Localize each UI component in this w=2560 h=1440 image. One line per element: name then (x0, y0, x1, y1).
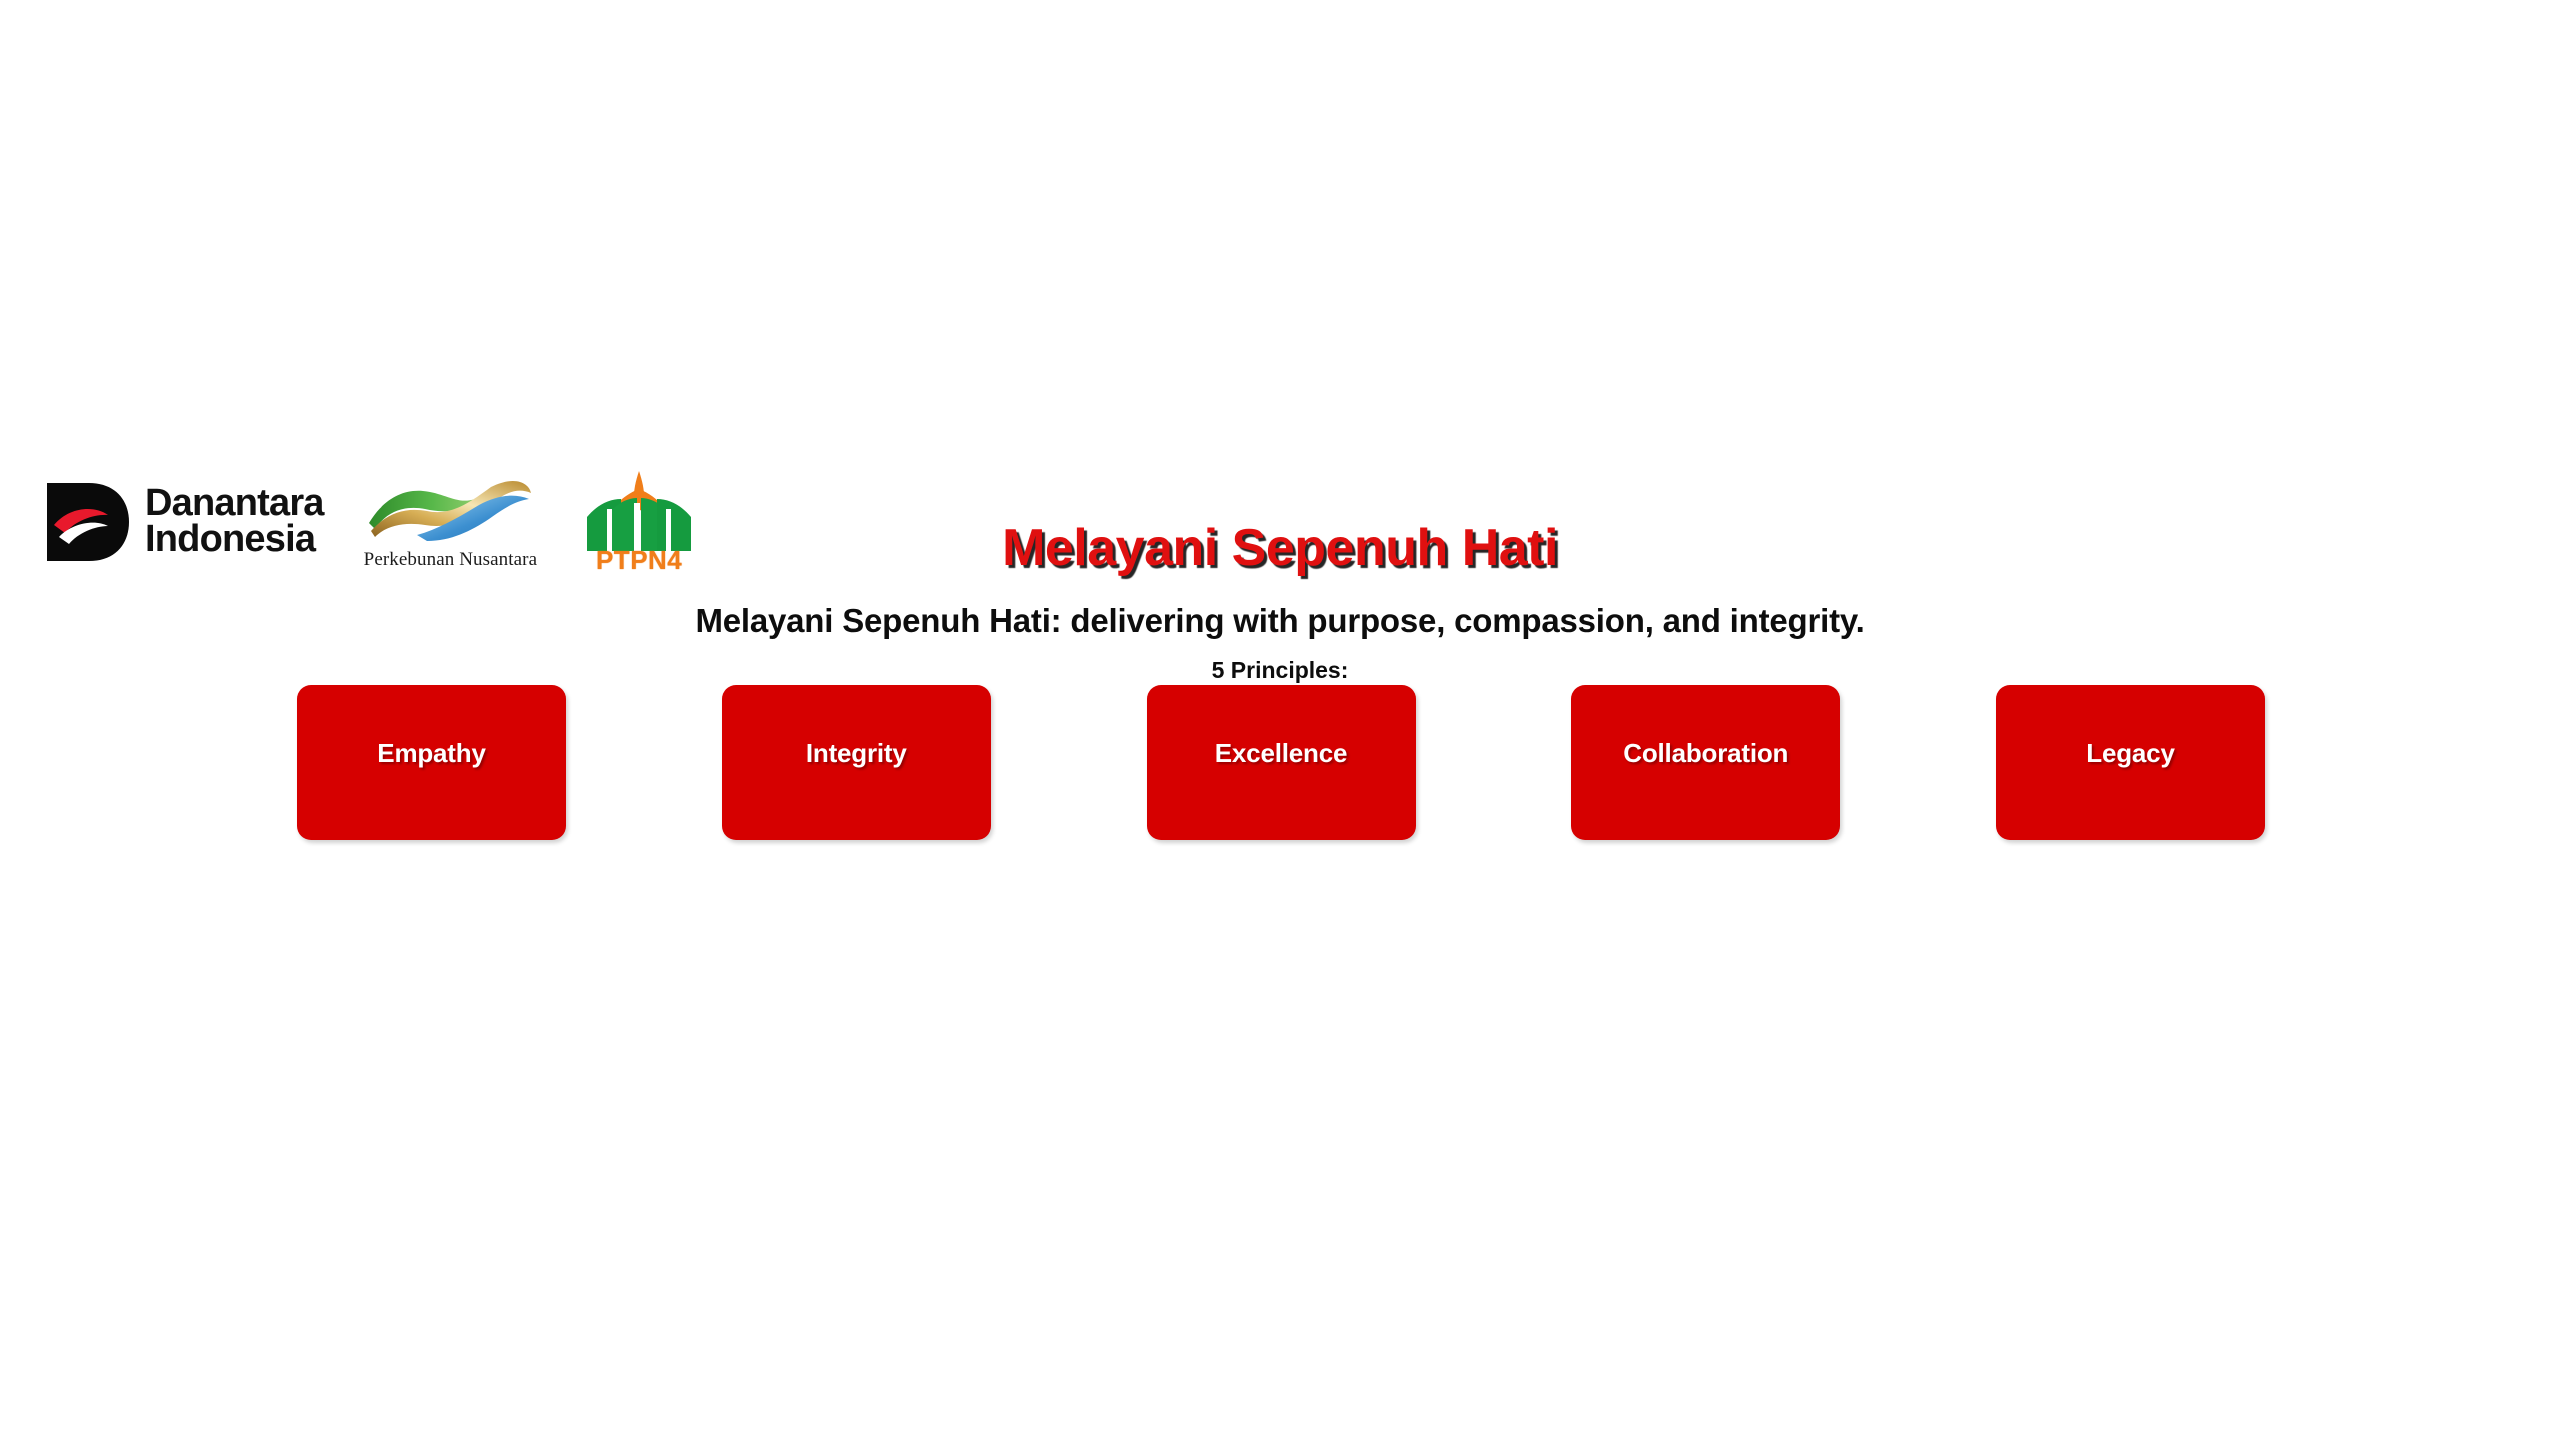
danantara-word-line1: Danantara (145, 486, 324, 522)
principle-card-legacy[interactable]: Legacy (1996, 685, 2265, 840)
principle-card-label: Excellence (1215, 738, 1347, 769)
principles-section-label: 5 Principles: (0, 640, 2560, 684)
header-block: Melayani Sepenuh Hati Melayani Sepenuh H… (0, 518, 2560, 684)
principle-card-label: Collaboration (1623, 738, 1788, 769)
principles-row: Empathy Integrity Excellence Collaborati… (297, 685, 2265, 840)
principle-card-label: Integrity (806, 738, 907, 769)
principle-card-integrity[interactable]: Integrity (722, 685, 991, 840)
principle-card-collaboration[interactable]: Collaboration (1571, 685, 1840, 840)
principle-card-label: Legacy (2086, 738, 2174, 769)
principle-card-label: Empathy (377, 738, 485, 769)
principle-card-empathy[interactable]: Empathy (297, 685, 566, 840)
page-subtitle: Melayani Sepenuh Hati: delivering with p… (0, 578, 2560, 640)
page-title: Melayani Sepenuh Hati (0, 518, 2560, 578)
principle-card-excellence[interactable]: Excellence (1147, 685, 1416, 840)
